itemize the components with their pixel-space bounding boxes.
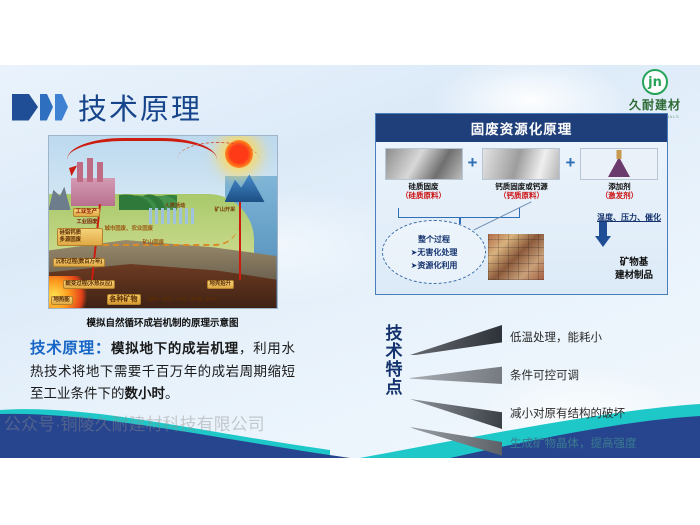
label-mining: 矿山开采 bbox=[215, 208, 236, 213]
label-geothermal: 地热能 bbox=[51, 296, 73, 305]
right-column: 固废资源化原理 硅质固废 （硅质原料） + 钙质固废或钙源 （钙质原料） + bbox=[375, 113, 668, 295]
process-item: ➤无害化处理 bbox=[411, 247, 458, 258]
technology-features: 技术特点 低温处理，能耗小 条件可控可调 减小对原有结构的破坏 生成矿物晶体，提… bbox=[382, 323, 672, 438]
process-item: ➤资源化利用 bbox=[411, 260, 458, 271]
material-alias: （硅质原料） bbox=[385, 191, 463, 200]
card-body: 硅质固废 （硅质原料） + 钙质固废或钙源 （钙质原料） + 添加剂 （激发剂） bbox=[376, 142, 667, 294]
chevron-arrow-icon bbox=[12, 94, 68, 121]
logo-mark-text: jn bbox=[648, 76, 662, 89]
label-industry: 工业生产 bbox=[73, 208, 101, 217]
chevron-bars-graphic bbox=[410, 323, 502, 438]
body-emphasis-2: 数小时 bbox=[125, 386, 166, 401]
process-summary-ellipse: 整个过程 ➤无害化处理 ➤资源化利用 bbox=[382, 220, 486, 284]
features-title: 技术特点 bbox=[382, 325, 406, 397]
material-name: 钙质固废或钙源 bbox=[482, 182, 560, 191]
company-logo: jn 久耐建材 JIUNAI MATERIALS bbox=[618, 69, 692, 119]
label-minerals: 各种矿物 bbox=[107, 294, 141, 305]
chevron-bar bbox=[410, 325, 502, 355]
feature-item: 低温处理，能耗小 bbox=[510, 329, 602, 345]
label-industry-waste: 工业固废 bbox=[77, 220, 98, 225]
material-alias: （钙质原料） bbox=[482, 191, 560, 200]
watermark-text: 公众号·铜陵久耐建材科技有限公司 bbox=[4, 410, 265, 435]
illustration-caption: 模拟自然循环成岩机制的原理示意图 bbox=[30, 315, 295, 329]
factory-icon bbox=[71, 178, 115, 206]
solid-waste-principle-card: 固废资源化原理 硅质固废 （硅质原料） + 钙质固废或钙源 （钙质原料） + bbox=[375, 113, 668, 295]
materials-row: 硅质固废 （硅质原料） + 钙质固废或钙源 （钙质原料） + 添加剂 （激发剂） bbox=[382, 148, 661, 201]
silica-rock-image bbox=[385, 148, 463, 180]
material-name: 添加剂 bbox=[580, 182, 658, 191]
chevron-bar bbox=[410, 399, 502, 429]
body-paragraph: 技术原理：模拟地下的成岩机理，利用水热技术将地下需要千百万年的成岩周期缩短至工业… bbox=[30, 336, 295, 405]
label-metamorphism: 蜕变过程(水热反应) bbox=[63, 280, 116, 289]
brick-products-image bbox=[488, 234, 544, 280]
dotted-arc bbox=[177, 142, 259, 177]
slide-canvas: 技术原理 jn 久耐建材 JIUNAI MATERIALS bbox=[0, 65, 700, 458]
logo-mark-icon: jn bbox=[642, 69, 668, 95]
feature-item: 减小对原有结构的破坏 bbox=[510, 405, 625, 421]
label-multi-source-waste: 硅铝钙质 多源固废 bbox=[57, 228, 103, 246]
flask-image bbox=[580, 148, 658, 180]
uplift-line bbox=[239, 202, 241, 280]
label-deposition: 沉积过程(数百万年) bbox=[53, 258, 106, 267]
card-header: 固废资源化原理 bbox=[376, 114, 667, 142]
material-item: 添加剂 （激发剂） bbox=[580, 148, 658, 201]
material-alias: （激发剂） bbox=[580, 191, 658, 200]
feature-item: 生成矿物晶体，提高强度 bbox=[510, 435, 637, 451]
logo-name-cn: 久耐建材 bbox=[618, 96, 692, 113]
down-arrow-icon bbox=[595, 222, 611, 248]
label-city-waste: 城市固废、农业固废 bbox=[103, 226, 156, 233]
material-name: 硅质固废 bbox=[385, 182, 463, 191]
calcium-rock-image bbox=[482, 148, 560, 180]
feature-item: 条件可控可调 bbox=[510, 367, 579, 383]
left-column: 工业生产 工业固废 硅铝钙质 多源固废 人类活动 矿山开采 城市固废、农业固废 … bbox=[30, 135, 295, 405]
label-minerals-sub: (硅酸钙、莫来石、方解石、硬石膏、沸石等) bbox=[147, 298, 218, 302]
body-lead: 技术原理： bbox=[30, 340, 111, 357]
product-label: 矿物基 建材制品 bbox=[615, 257, 653, 282]
body-tail: 。 bbox=[165, 386, 179, 401]
chevron-bar bbox=[410, 363, 502, 393]
rock-cycle-illustration: 工业生产 工业固废 硅铝钙质 多源固废 人类活动 矿山开采 城市固废、农业固废 … bbox=[48, 135, 278, 309]
label-human-activity: 人类活动 bbox=[165, 204, 186, 209]
watermark: 公众号·铜陵久耐建材科技有限公司 bbox=[0, 410, 310, 435]
page-title: 技术原理 bbox=[78, 86, 202, 128]
process-title: 整个过程 bbox=[418, 234, 450, 245]
plus-icon: + bbox=[565, 148, 575, 178]
material-item: 钙质固废或钙源 （钙质原料） bbox=[482, 148, 560, 201]
page-title-row: 技术原理 bbox=[12, 88, 202, 126]
label-uplift: 地壳抬升 bbox=[207, 280, 235, 289]
plus-icon: + bbox=[468, 148, 478, 178]
body-emphasis-1: 模拟地下的成岩机理 bbox=[111, 341, 239, 356]
material-item: 硅质固废 （硅质原料） bbox=[385, 148, 463, 201]
label-mine-waste: 矿山固废 bbox=[141, 240, 167, 247]
